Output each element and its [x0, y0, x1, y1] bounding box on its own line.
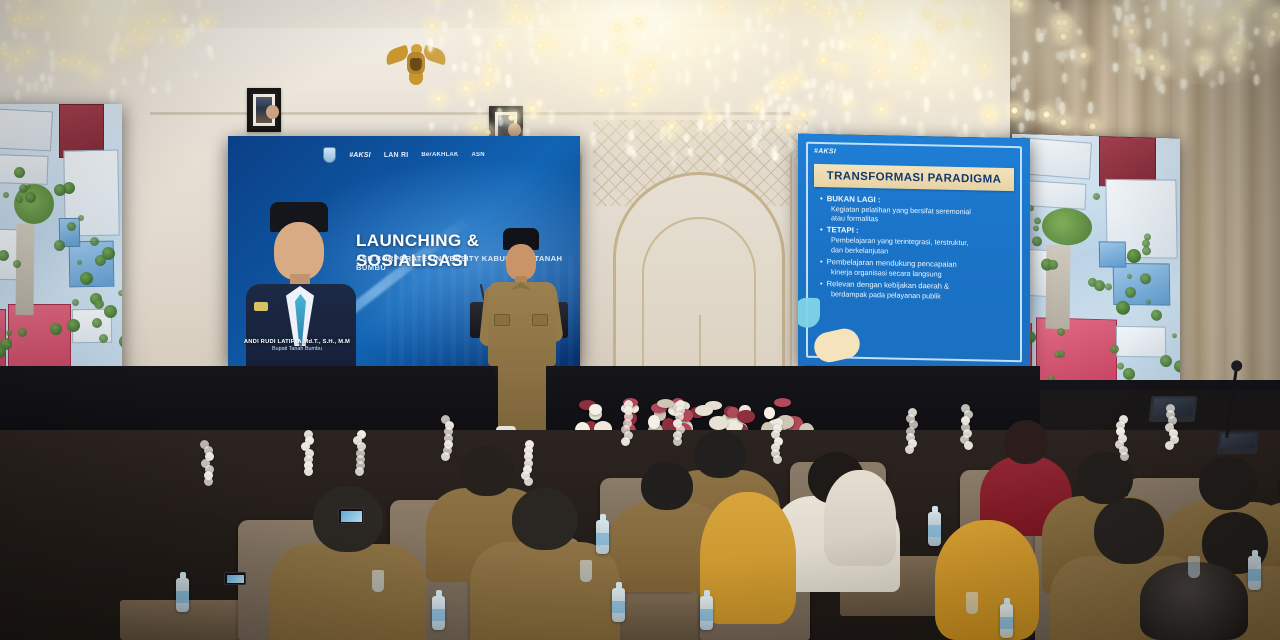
flower-spray — [200, 440, 212, 486]
led-screen-right-aerial[interactable] — [1012, 134, 1180, 401]
list-item: • TETAPI : Pembelajaran yang terintegras… — [820, 225, 1016, 258]
flower-spray — [1115, 415, 1127, 461]
nameplate-name: ANDI RUDI LATIF, A.Md.T., S.H., M.M — [234, 339, 360, 345]
transformasi-slide: #AKSI TRANSFORMASI PARADIGMA • BUKAN LAG… — [798, 134, 1030, 371]
water-bottle[interactable] — [1000, 604, 1013, 638]
drinking-glass[interactable] — [580, 560, 592, 582]
flower-spray — [770, 418, 782, 464]
portrait-image — [256, 97, 272, 123]
smartphone[interactable] — [338, 508, 364, 524]
bottle-label — [176, 591, 189, 603]
decor-blob-teal — [798, 297, 820, 328]
water-bottle[interactable] — [928, 512, 941, 546]
flower-spray — [620, 400, 632, 446]
bottle-label — [432, 609, 445, 621]
smartphone[interactable] — [224, 572, 246, 585]
chandelier-icon — [0, 0, 210, 92]
bottle-label — [928, 525, 941, 537]
audience-member-hijab — [700, 492, 796, 624]
drinking-glass[interactable] — [966, 592, 978, 614]
bottle-label — [612, 601, 625, 613]
aerial-view-image — [1012, 134, 1180, 401]
water-bottle[interactable] — [596, 520, 609, 554]
uniform-pocket — [532, 314, 548, 326]
photo-badge — [254, 302, 268, 311]
flower-spray — [300, 430, 312, 476]
list-item: • Pembelajaran mendukung pencapaian kine… — [820, 257, 1016, 280]
uniform-pocket — [494, 314, 510, 326]
slide-nameplate: ANDI RUDI LATIF, A.Md.T., S.H., M.M Bupa… — [234, 339, 360, 352]
speaker-head — [506, 244, 536, 280]
chandelier-icon — [760, 0, 1090, 150]
flower-spray — [672, 400, 684, 446]
drinking-glass[interactable] — [1188, 556, 1200, 578]
chandelier-icon — [1110, 0, 1280, 85]
flower-spray — [960, 404, 972, 450]
list-item: • BUKAN LAGI : Kegiatan pelatihan yang b… — [820, 194, 1016, 227]
water-bottle[interactable] — [176, 578, 189, 612]
lan-ri-logo: LAN RI — [384, 152, 409, 159]
bullet-dot-icon: • — [820, 257, 823, 267]
flower-spray — [1165, 404, 1177, 450]
bullet-dot-icon: • — [820, 279, 823, 289]
audience-member-hijab — [824, 470, 896, 566]
water-bottle[interactable] — [1248, 556, 1261, 590]
asn-logo: ASN — [472, 152, 485, 158]
berakhlak-logo: BerAKHLAK — [421, 152, 458, 158]
drinking-glass[interactable] — [372, 570, 384, 592]
regency-shield-logo — [323, 147, 336, 163]
audience-head — [512, 488, 578, 550]
audience-head — [1094, 498, 1164, 564]
bottle-label — [596, 533, 609, 545]
audience-member — [470, 488, 620, 640]
slide-bullet-list: • BUKAN LAGI : Kegiatan pelatihan yang b… — [820, 194, 1016, 305]
speaker-legs — [498, 364, 546, 434]
water-bottle[interactable] — [432, 596, 445, 630]
slide-logo-bar: #AKSI LAN RI BerAKHLAK ASN — [228, 144, 580, 166]
laptop[interactable] — [1217, 432, 1259, 454]
water-bottle[interactable] — [612, 588, 625, 622]
list-item: • Relevan dengan kebijakan daerah & berd… — [820, 279, 1016, 302]
aerial-view-image — [0, 104, 122, 389]
bottle-label — [1248, 569, 1261, 581]
bottle-label — [1000, 617, 1013, 629]
photo-head — [274, 222, 324, 280]
water-bottle[interactable] — [700, 596, 713, 630]
phone-screen — [227, 575, 244, 583]
screenshot-root: #AKSI LAN RI BerAKHLAK ASN LAUNCHING & S… — [0, 0, 1280, 640]
audience-torso — [270, 544, 426, 640]
flower-spray — [520, 440, 532, 486]
speaker-at-podium — [486, 226, 558, 436]
led-screen-left-aerial[interactable] — [0, 104, 122, 389]
flower-spray — [905, 408, 917, 454]
nameplate-role: Bupati Tanah Bumbu — [234, 346, 360, 352]
bullet-dot-icon: • — [820, 194, 823, 204]
flower-spray — [352, 430, 364, 476]
bullet-dot-icon: • — [820, 225, 823, 235]
bottle-label — [700, 609, 713, 621]
slide-title: TRANSFORMASI PARADIGMA — [814, 164, 1014, 191]
aksi-logo: #AKSI — [814, 148, 836, 155]
audience-head — [641, 462, 693, 510]
aksi-logo: #AKSI — [349, 152, 371, 159]
audience-member-hijab — [935, 520, 1039, 640]
president-portrait-frame — [247, 88, 281, 132]
led-screen-right-slide[interactable]: #AKSI TRANSFORMASI PARADIGMA • BUKAN LAG… — [798, 134, 1030, 371]
audience-torso — [470, 542, 620, 640]
flower-spray — [440, 415, 452, 461]
phone-screen — [341, 511, 362, 522]
